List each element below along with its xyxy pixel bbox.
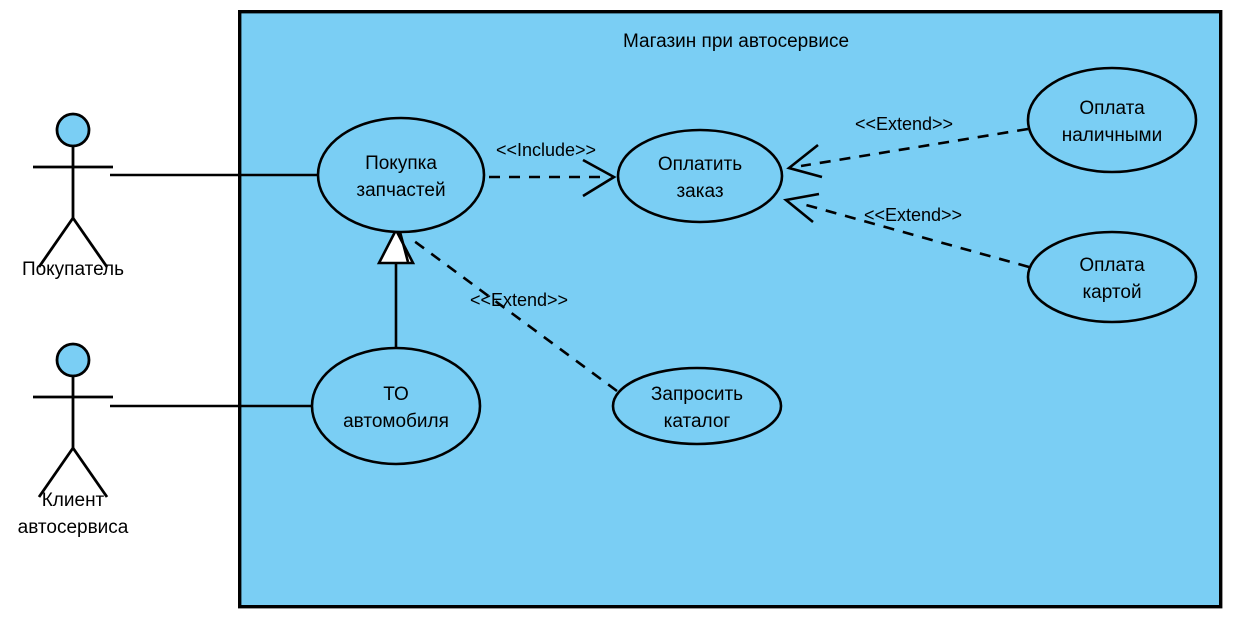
use-case-ellipse[interactable] [312,348,480,464]
use-case-ellipse[interactable] [613,368,781,444]
use-case-pay-order-label-line2: заказ [676,181,723,202]
use-case-pay-card-label-line1: Оплата [1079,255,1145,276]
use-case-ellipse[interactable] [1028,232,1196,322]
use-case-request-catalog-label-line1: Запросить [651,384,743,405]
actor-service-client-label-line1: Клиент [42,490,105,511]
use-case-ellipse[interactable] [1028,68,1196,172]
actor-head-icon [57,344,89,376]
actor-service-client[interactable]: Клиент автосервиса [18,344,129,538]
actor-service-client-label-line2: автосервиса [18,517,129,538]
use-case-car-service-label-line1: ТО [383,384,409,405]
use-case-buy-parts-label-line1: Покупка [365,153,437,174]
use-case-ellipse[interactable] [618,130,782,222]
actor-buyer[interactable]: Покупатель [22,114,124,280]
use-case-pay-cash-label-line2: наличными [1062,125,1162,146]
use-case-request-catalog-label-line2: каталог [664,411,731,432]
use-case-pay-cash[interactable]: Оплата наличными [1028,68,1196,172]
diagram-canvas: Магазин при автосервисе Покупатель Клиен… [0,0,1233,621]
system-boundary-title: Магазин при автосервисе [623,31,849,52]
use-case-diagram: Магазин при автосервисе Покупатель Клиен… [0,0,1233,621]
use-case-car-service[interactable]: ТО автомобиля [312,348,480,464]
use-case-car-service-label-line2: автомобиля [343,411,449,432]
use-case-pay-cash-label-line1: Оплата [1079,98,1145,119]
use-case-pay-order-label-line1: Оплатить [658,154,742,175]
use-case-pay-card-label-line2: картой [1082,282,1141,303]
actor-buyer-label: Покупатель [22,259,124,280]
use-case-buy-parts-label-line2: запчастей [356,180,445,201]
extend-catalog-stereotype-label: <<Extend>> [470,290,568,310]
actor-head-icon [57,114,89,146]
use-case-request-catalog[interactable]: Запросить каталог [613,368,781,444]
use-case-pay-card[interactable]: Оплата картой [1028,232,1196,322]
use-case-buy-parts[interactable]: Покупка запчастей [318,118,484,232]
use-case-ellipse[interactable] [318,118,484,232]
extend-card-stereotype-label: <<Extend>> [864,205,962,225]
use-case-pay-order[interactable]: Оплатить заказ [618,130,782,222]
include-stereotype-label: <<Include>> [496,140,596,160]
extend-cash-stereotype-label: <<Extend>> [855,114,953,134]
